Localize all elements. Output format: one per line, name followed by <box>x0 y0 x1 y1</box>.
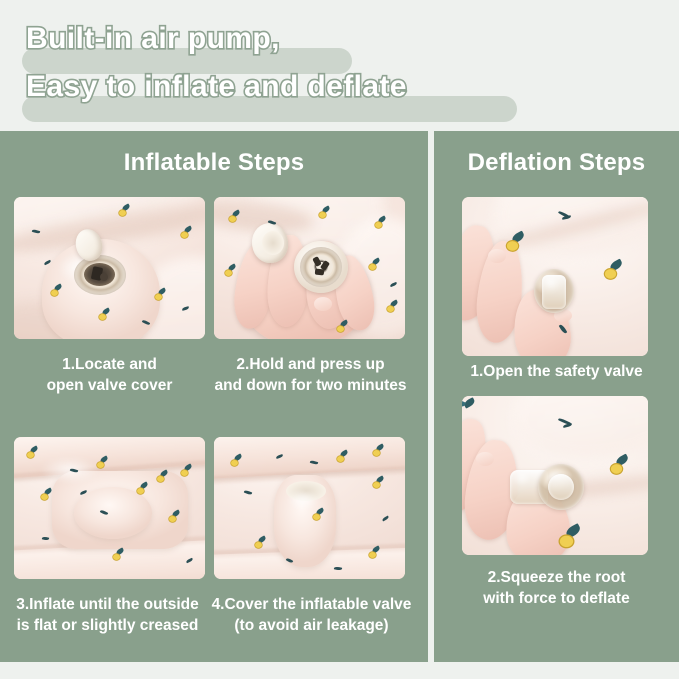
deflation-steps-title: Deflation Steps <box>434 149 679 177</box>
inflatable-steps-title: Inflatable Steps <box>0 149 428 177</box>
step-caption-4: 4.Cover the inflatable valve (to avoid a… <box>206 595 417 636</box>
step-photo-3 <box>14 437 205 579</box>
header-banner: Built-in air pump, Easy to inflate and d… <box>0 0 679 131</box>
headline-line-1: Built-in air pump, <box>26 22 280 56</box>
deflation-photo-2 <box>462 396 648 555</box>
step-caption-4-line-2: (to avoid air leakage) <box>206 616 417 637</box>
deflation-caption-2-line-1: 2.Squeeze the root <box>440 568 673 589</box>
step-caption-1-line-1: 1.Locate and <box>10 355 209 376</box>
step-photo-2 <box>214 197 405 339</box>
step-photo-1 <box>14 197 205 339</box>
bottom-margin <box>0 662 679 679</box>
deflation-caption-2: 2.Squeeze the root with force to deflate <box>440 568 673 609</box>
headline-line-2: Easy to inflate and deflate <box>26 70 407 104</box>
step-caption-4-line-1: 4.Cover the inflatable valve <box>206 595 417 616</box>
step-caption-1-line-2: open valve cover <box>10 376 209 397</box>
step-caption-1: 1.Locate and open valve cover <box>10 355 209 396</box>
deflation-caption-1-line-1: 1.Open the safety valve <box>440 362 673 383</box>
step-caption-2-line-1: 2.Hold and press up <box>208 355 413 376</box>
deflation-photo-1 <box>462 197 648 356</box>
deflation-caption-2-line-2: with force to deflate <box>440 589 673 610</box>
step-caption-3-line-2: is flat or slightly creased <box>4 616 211 637</box>
infographic-page: Built-in air pump, Easy to inflate and d… <box>0 0 679 679</box>
deflation-caption-1: 1.Open the safety valve <box>440 362 673 383</box>
step-caption-3-line-1: 3.Inflate until the outside <box>4 595 211 616</box>
step-caption-3: 3.Inflate until the outside is flat or s… <box>4 595 211 636</box>
step-caption-2-line-2: and down for two minutes <box>208 376 413 397</box>
step-caption-2: 2.Hold and press up and down for two min… <box>208 355 413 396</box>
step-photo-4 <box>214 437 405 579</box>
